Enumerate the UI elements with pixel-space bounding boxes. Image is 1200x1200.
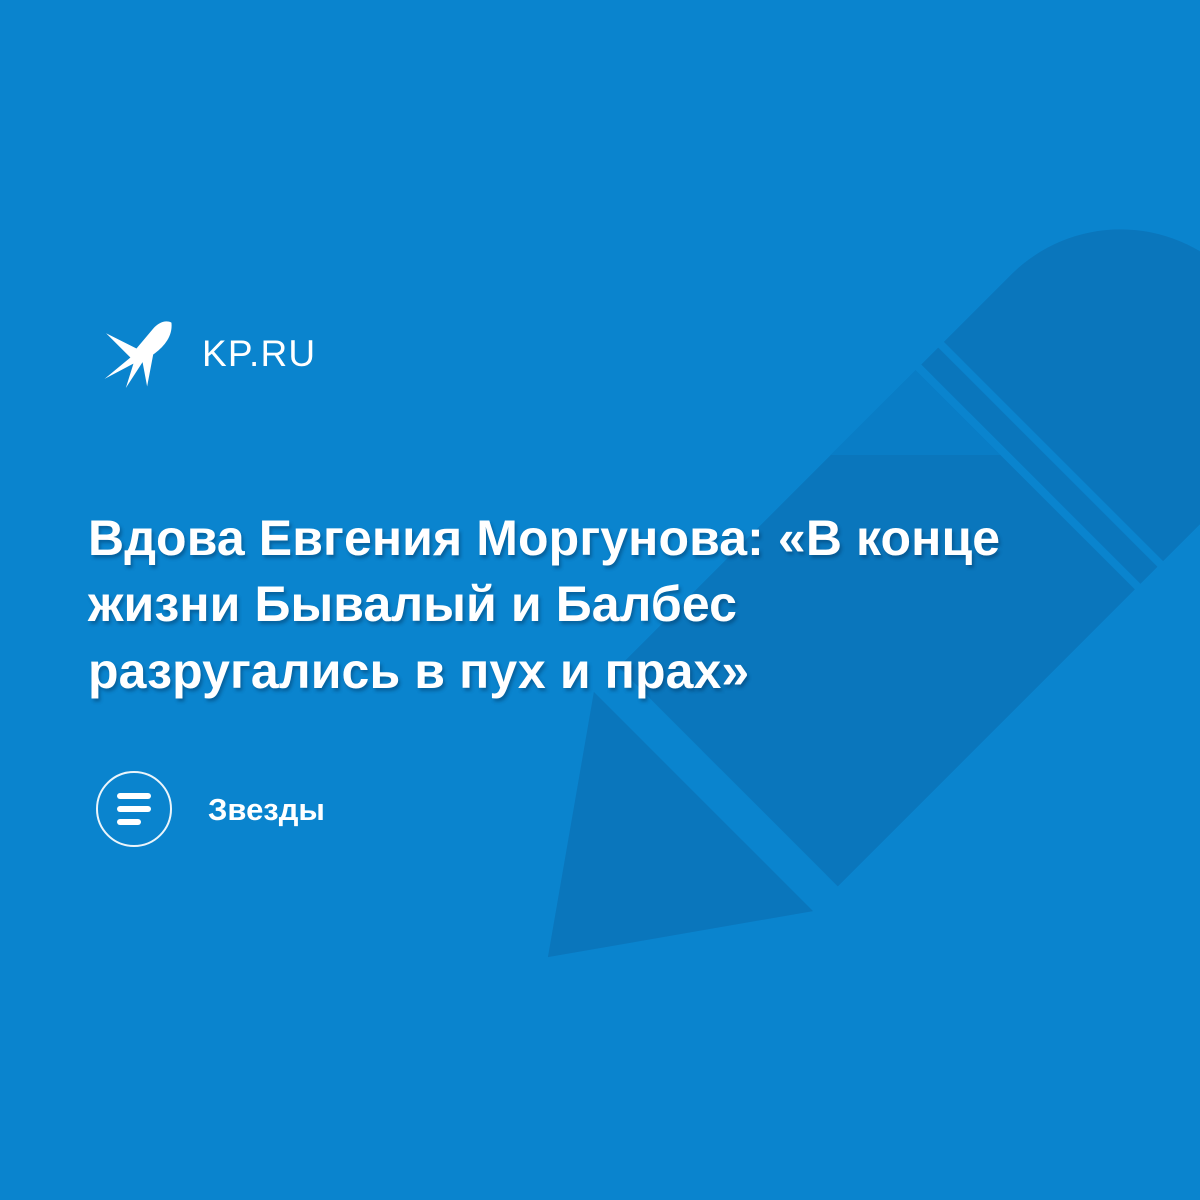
menu-bar-3 — [117, 819, 141, 825]
brand-logo: KP.RU — [100, 313, 316, 393]
article-title: Вдова Евгения Моргунова: «В конце жизни … — [88, 505, 1048, 705]
category-badge[interactable]: Звезды — [96, 768, 325, 850]
article-share-card: KP.RU Вдова Евгения Моргунова: «В конце … — [0, 0, 1200, 1200]
category-label: Звезды — [208, 794, 325, 825]
menu-bar-1 — [117, 793, 151, 799]
brand-logo-text: KP.RU — [202, 335, 316, 372]
menu-bar-2 — [117, 806, 151, 812]
hamburger-menu-icon — [96, 771, 172, 847]
swallow-bird-icon — [100, 315, 176, 391]
